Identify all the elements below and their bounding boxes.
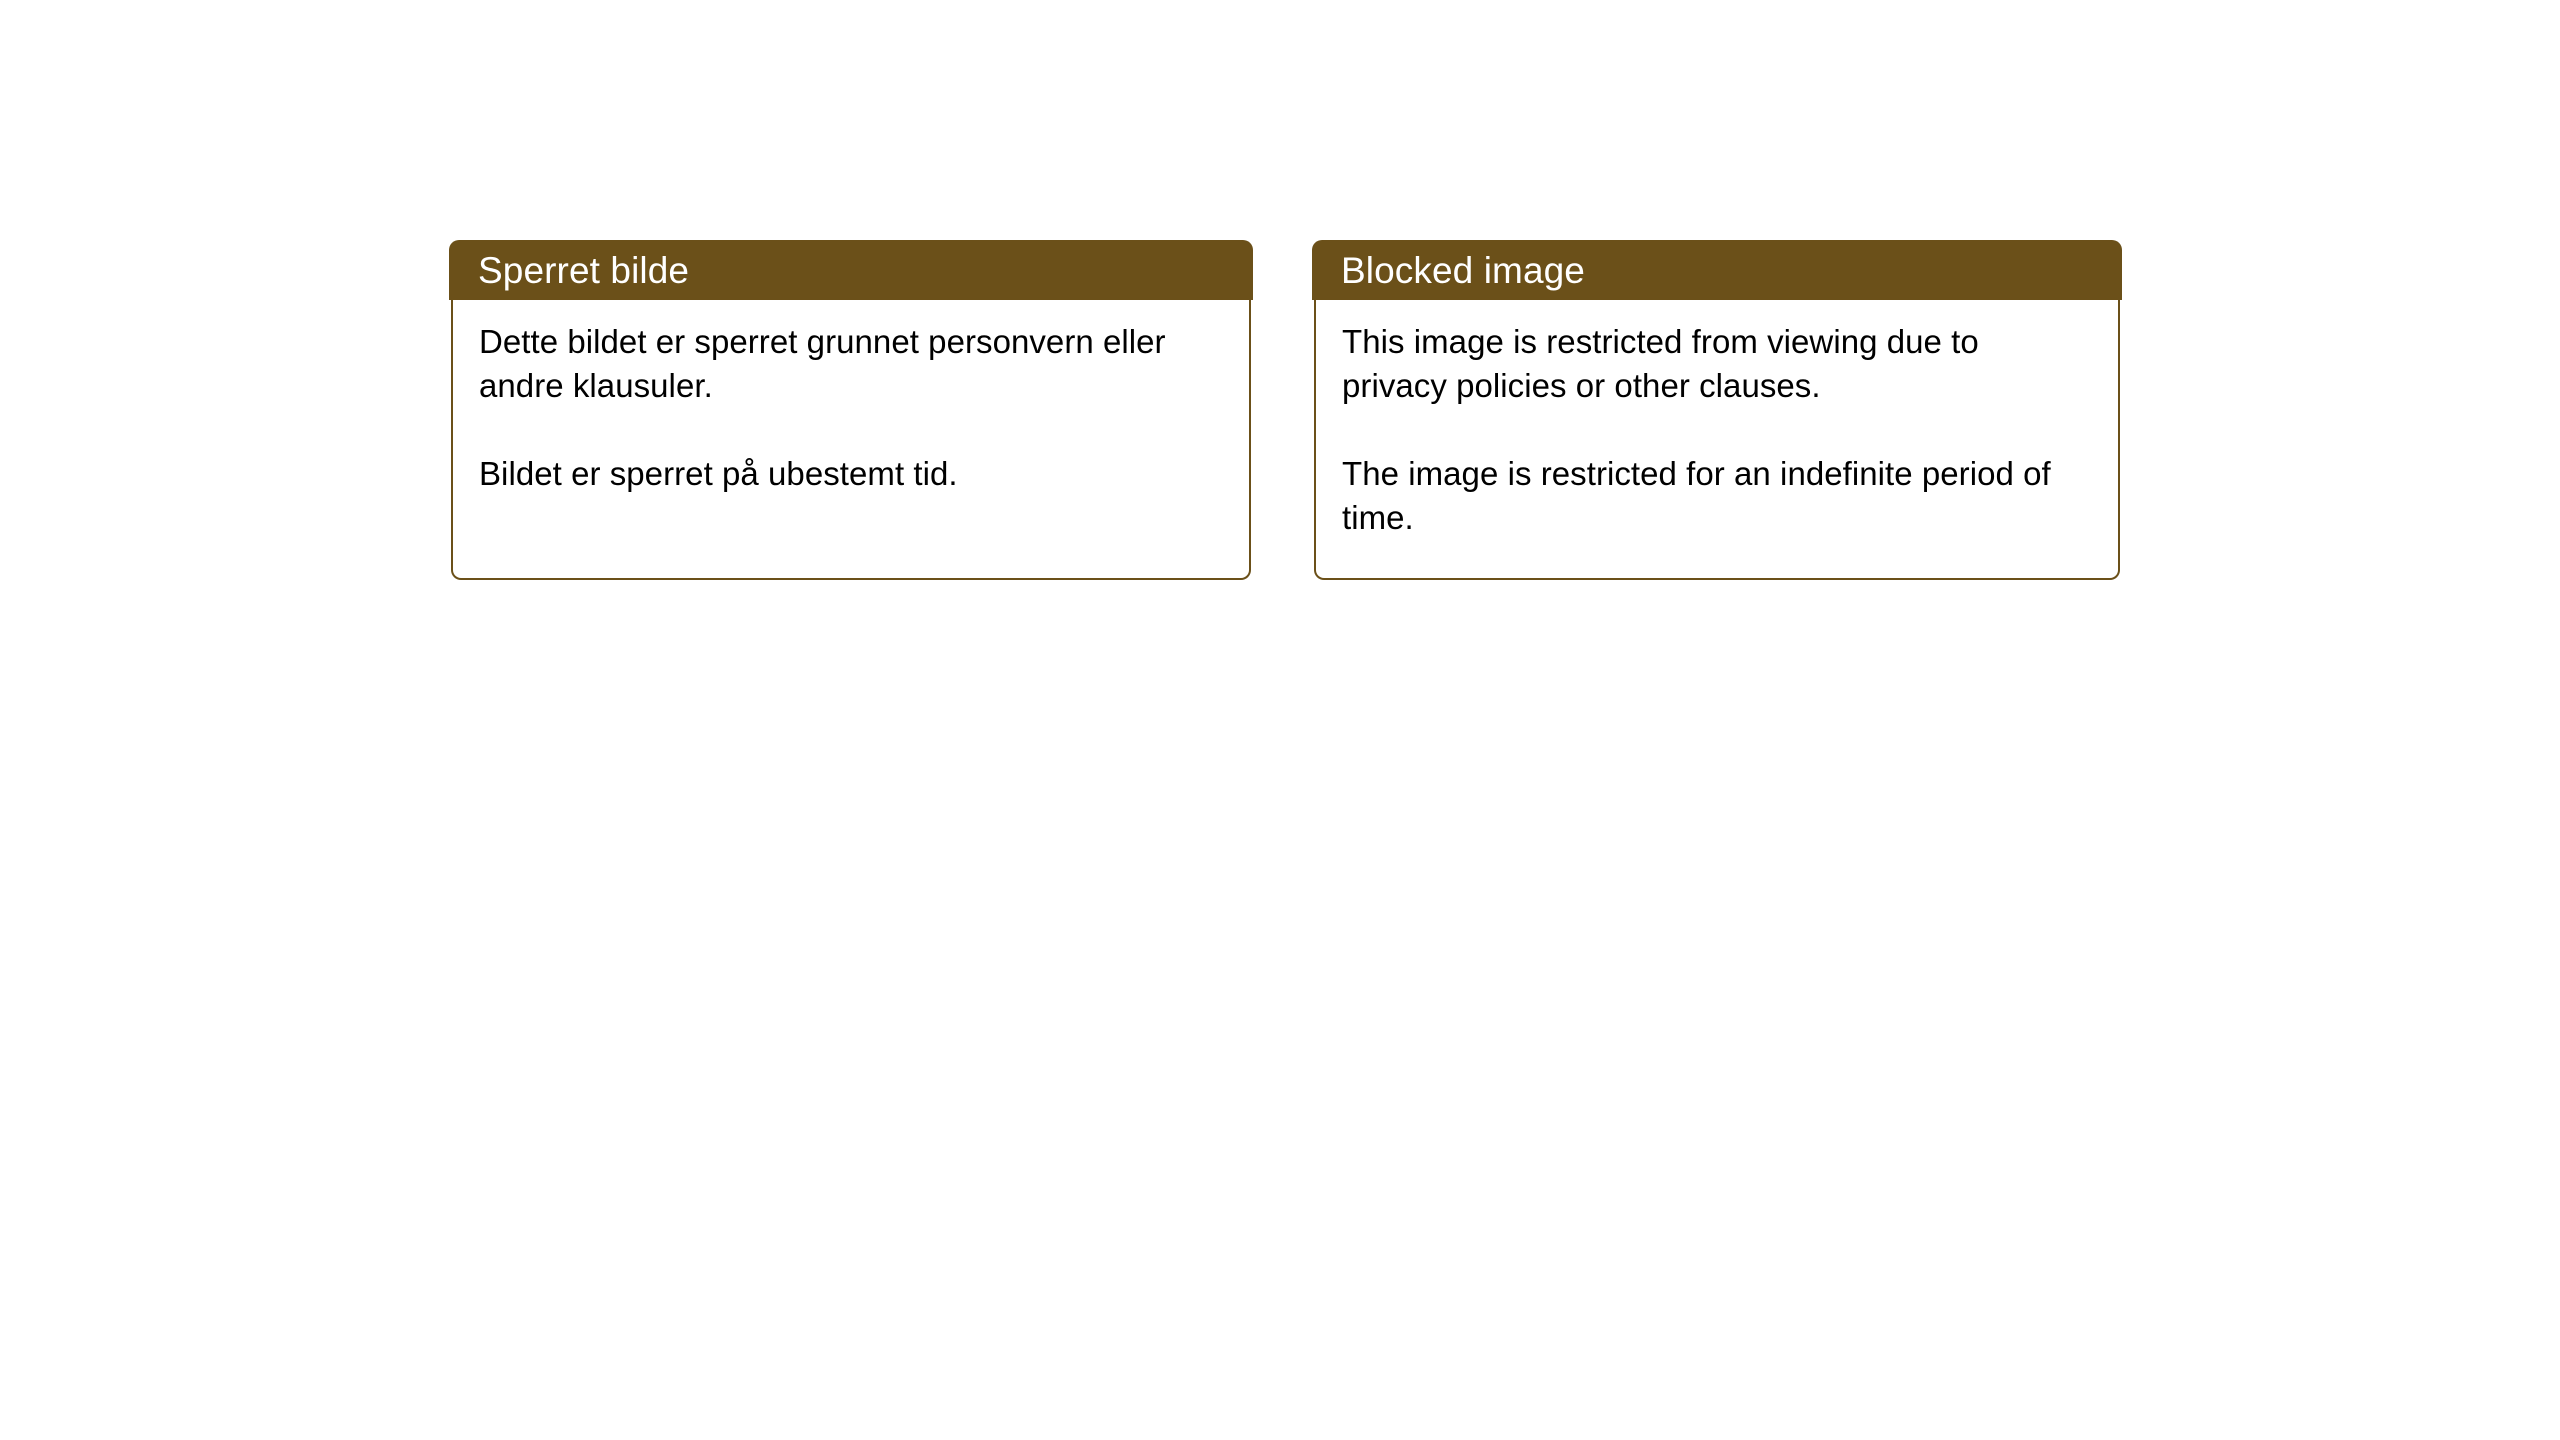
page-canvas: Sperret bilde Dette bildet er sperret gr… — [0, 0, 2560, 1440]
panel-header-en: Blocked image — [1312, 240, 2122, 300]
blocked-image-notice-no: Sperret bilde Dette bildet er sperret gr… — [451, 240, 1251, 580]
panel-title-en: Blocked image — [1341, 249, 1585, 293]
panel-body-no: Dette bildet er sperret grunnet personve… — [451, 300, 1251, 580]
blocked-image-notice-en: Blocked image This image is restricted f… — [1314, 240, 2120, 580]
notice-paragraph-no-1: Dette bildet er sperret grunnet personve… — [479, 320, 1223, 408]
panel-title-no: Sperret bilde — [478, 249, 689, 293]
panel-body-en: This image is restricted from viewing du… — [1314, 300, 2120, 580]
notice-paragraph-en-2: The image is restricted for an indefinit… — [1342, 452, 2092, 540]
notice-paragraph-no-2: Bildet er sperret på ubestemt tid. — [479, 452, 1223, 496]
notice-paragraph-en-1: This image is restricted from viewing du… — [1342, 320, 2092, 408]
panel-header-no: Sperret bilde — [449, 240, 1253, 300]
